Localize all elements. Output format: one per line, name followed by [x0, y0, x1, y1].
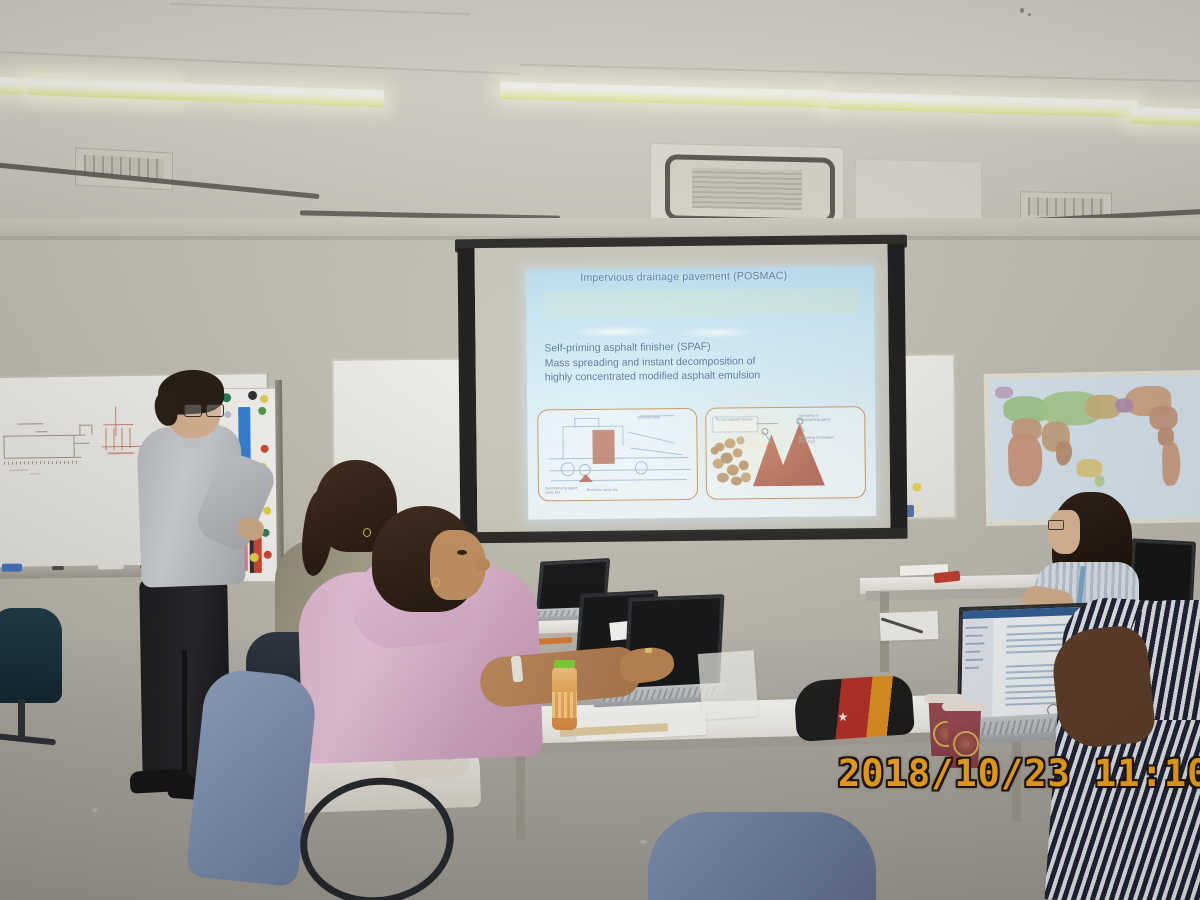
ceiling-light-icon	[500, 82, 830, 108]
camera-timestamp: 2018/10/23 11:10	[838, 752, 1200, 795]
nose	[476, 558, 490, 571]
ceiling-panel	[855, 159, 982, 224]
ring	[645, 648, 652, 653]
emulsion-tank-box	[592, 430, 614, 464]
glasses-icon	[1048, 520, 1064, 530]
air-vent-icon	[75, 147, 173, 190]
desk-leg	[516, 744, 525, 839]
aggregate-spreading-diagram: Porous asphalt mixture	[705, 406, 866, 500]
slide-swoosh-decoration	[576, 320, 766, 340]
figure1-label-3: Decomposing agent spray bar	[545, 486, 579, 495]
ceiling	[0, 0, 1200, 250]
projected-slide: Impervious drainage pavement (POSMAC) Se…	[526, 266, 877, 520]
earring	[363, 528, 371, 537]
arm	[1049, 623, 1157, 750]
chair-foreground-right[interactable]	[648, 812, 876, 900]
figure2-label-2: Spreading of decomposing agent	[798, 413, 834, 422]
face	[1048, 510, 1080, 554]
chair-stem	[18, 700, 25, 740]
spread-cone-2	[774, 424, 825, 487]
ceiling-light-icon	[1130, 107, 1200, 127]
tote-bag[interactable]	[793, 674, 915, 742]
glasses-icon	[184, 404, 222, 416]
figure1-label-2: Emulsion spray bar	[587, 487, 649, 492]
spaf-machine-schematic: Emulsion tank	[537, 408, 698, 502]
ceiling-light-icon	[28, 78, 384, 107]
clear-folder[interactable]	[698, 650, 758, 720]
slide-figures: Emulsion tank	[537, 406, 866, 501]
chair-teal[interactable]	[0, 608, 62, 703]
screen-edge-right	[887, 244, 907, 536]
coffee-cup-2-lid	[942, 702, 986, 711]
earring	[432, 578, 440, 587]
figure2-label-1: Porous asphalt mixture	[714, 417, 754, 422]
ceiling-ac-cassette-icon	[650, 143, 844, 227]
juice-bottle-label	[552, 692, 577, 718]
slide-body: Self-priming asphalt finisher (SPAF) Mas…	[544, 338, 864, 385]
slide-title-band	[542, 288, 858, 317]
ceiling-light-icon	[828, 92, 1138, 118]
slide-title: Impervious drainage pavement (POSMAC)	[526, 269, 842, 284]
classroom-photo: Impervious drainage pavement (POSMAC) Se…	[0, 0, 1200, 900]
spray-cone-icon	[579, 474, 593, 482]
projection-screen: Impervious drainage pavement (POSMAC) Se…	[457, 244, 907, 543]
slide-body-line-3: highly concentrated modified asphalt emu…	[545, 367, 865, 385]
chair-foreground-left[interactable]	[185, 667, 318, 888]
figure2-label-3: Spreading of emulsion (1.5 L/m2)	[798, 435, 834, 444]
eye	[457, 550, 467, 555]
